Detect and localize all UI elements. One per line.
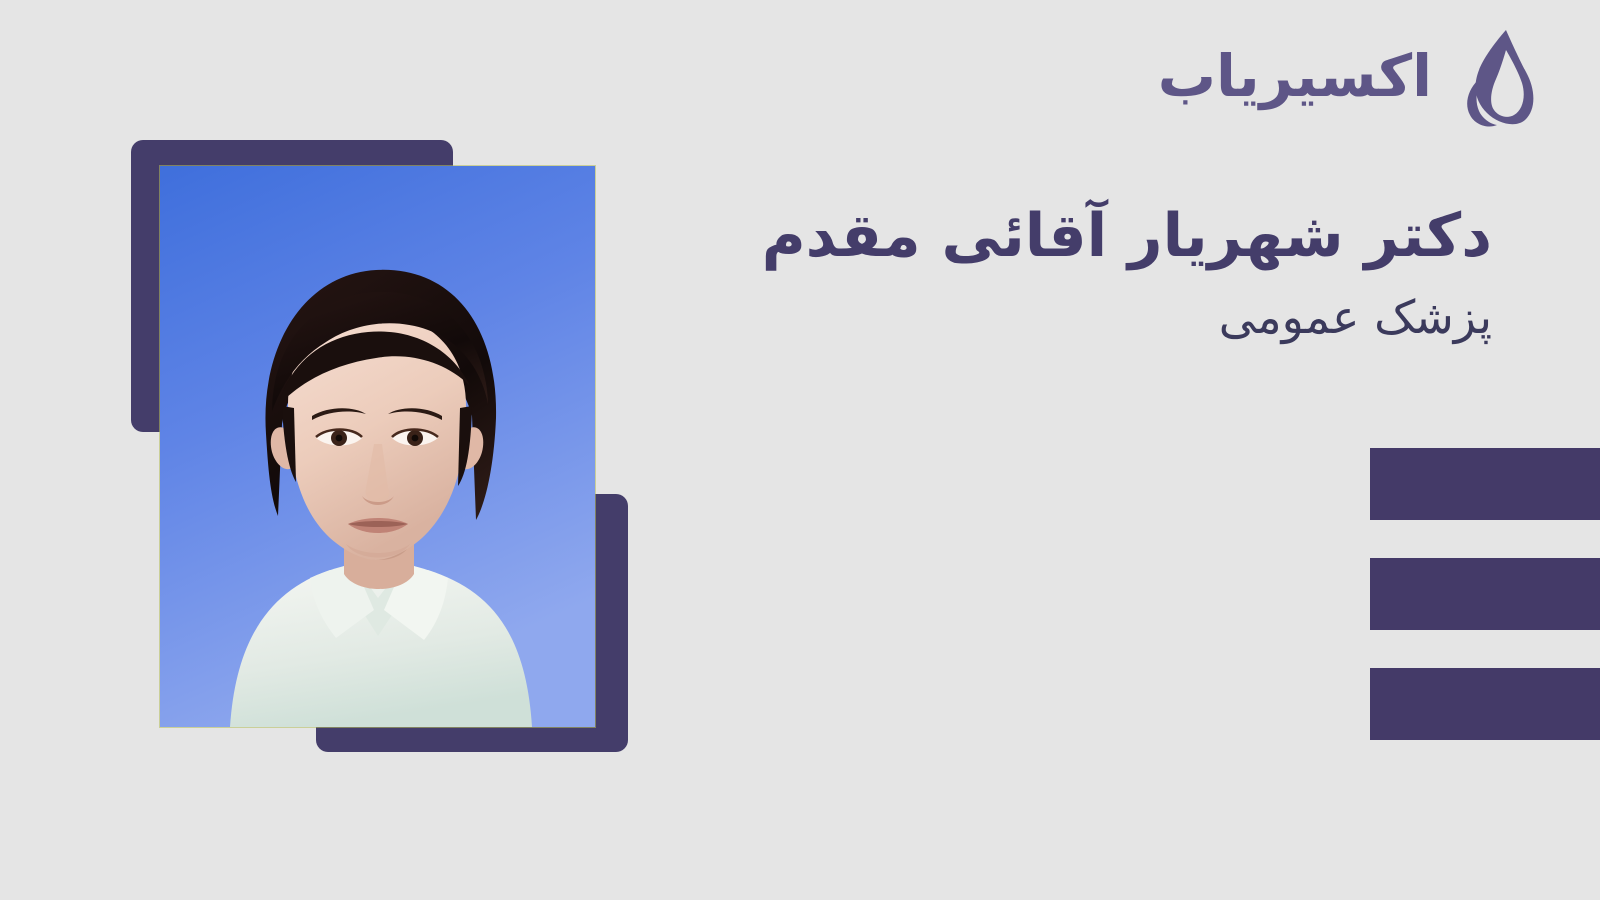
doctor-specialty: پزشک عمومی bbox=[672, 289, 1492, 347]
brand-name: اکسیریاب bbox=[1158, 47, 1432, 115]
flame-drop-icon bbox=[1446, 28, 1538, 133]
doctor-name: دکتر شهریار آقائی مقدم bbox=[672, 196, 1492, 277]
accent-bar-2 bbox=[1370, 558, 1600, 630]
accent-bar-3 bbox=[1370, 668, 1600, 740]
headline-block: دکتر شهریار آقائی مقدم پزشک عمومی bbox=[672, 196, 1492, 347]
accent-bar-1 bbox=[1370, 448, 1600, 520]
doctor-profile-card: اکسیریاب دکتر شهریار آقائی مقدم پزشک عمو… bbox=[0, 0, 1600, 900]
brand-logo[interactable]: اکسیریاب bbox=[1158, 28, 1538, 133]
photo-composition bbox=[0, 0, 700, 900]
doctor-portrait-photo bbox=[160, 166, 595, 727]
